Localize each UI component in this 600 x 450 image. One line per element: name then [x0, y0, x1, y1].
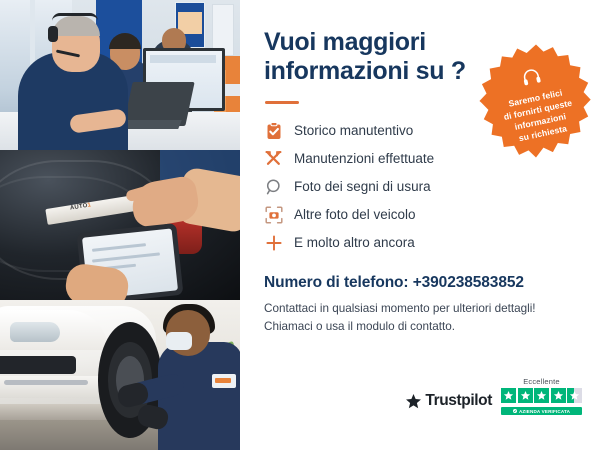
agent-headset-band: [52, 13, 98, 21]
status-badge: Saremo felici di fornirti queste informa…: [477, 42, 595, 160]
car-chrome-trim: [4, 380, 88, 385]
trustpilot-stars: [501, 388, 582, 403]
magnifier-icon: [264, 177, 283, 196]
car-grille: [0, 356, 76, 374]
star-filled-icon: [534, 388, 549, 403]
call-center-agents-photo: [0, 0, 240, 150]
contact-note-line-2: Chiamaci o usa il modulo di contatto.: [264, 318, 574, 337]
star-filled-icon: [501, 388, 516, 403]
promo-banner: AUTO1: [0, 0, 600, 450]
trustpilot-wordmark: Trustpilot: [425, 392, 492, 410]
trustpilot-rating-label: Eccellente: [523, 377, 560, 386]
crossed-tools-icon: [264, 149, 283, 168]
verified-company-label: AZIENDA VERIFICATA: [519, 409, 570, 414]
badge-content: Saremo felici di fornirti queste informa…: [466, 31, 600, 171]
clipboard-check-icon: [264, 121, 283, 140]
star-filled-icon: [518, 388, 533, 403]
list-item: E molto altro ancora: [264, 229, 574, 257]
car-headlight: [10, 322, 60, 342]
title-underline-accent: [265, 101, 299, 104]
photo-strip: AUTO1: [0, 0, 240, 450]
list-item: Altre foto del veicolo: [264, 201, 574, 229]
list-item-label: Foto dei segni di usura: [294, 179, 431, 194]
photo-focus-icon: [264, 205, 283, 224]
contact-note-line-1: Contattaci in qualsiasi momento per ulte…: [264, 300, 574, 319]
headset-icon: [520, 66, 543, 91]
vehicle-body-inspection-photo: AUTO1: [0, 150, 240, 300]
agent-headset-earcup: [48, 26, 58, 42]
list-item-label: Storico manutentivo: [294, 123, 413, 138]
trustpilot-rating[interactable]: Trustpilot Eccellente: [405, 377, 582, 415]
mechanic-face-mask: [166, 332, 192, 350]
wheel-service-photo: [0, 300, 240, 450]
plus-icon: [264, 233, 283, 252]
badge-text: Saremo felici di fornirti queste informa…: [500, 85, 578, 147]
headline-line-1: Vuoi maggiori: [264, 28, 426, 56]
headline-line-2: informazioni su ?: [264, 57, 466, 85]
mechanic-uniform-badge: [212, 374, 236, 388]
promo-content: Vuoi maggiori informazioni su ? Storico …: [240, 0, 600, 450]
list-item: Foto dei segni di usura: [264, 173, 574, 201]
contact-note: Contattaci in qualsiasi momento per ulte…: [264, 300, 574, 338]
check-circle-icon: [513, 409, 517, 413]
trustpilot-score-block: Eccellente: [501, 377, 582, 415]
trustpilot-star-icon: [405, 393, 422, 410]
trustpilot-logo: Trustpilot: [405, 392, 492, 415]
list-item-label: E molto altro ancora: [294, 235, 415, 250]
monitor-toolbar: [150, 55, 216, 63]
phone-number-label: Numero di telefono: +390238583852: [264, 274, 574, 292]
list-item-label: Manutenzioni effettuate: [294, 151, 434, 166]
list-item-label: Altre foto del veicolo: [294, 207, 416, 222]
star-filled-icon: [551, 388, 566, 403]
verified-company-badge: AZIENDA VERIFICATA: [501, 407, 582, 415]
star-partial-icon: [567, 388, 582, 403]
